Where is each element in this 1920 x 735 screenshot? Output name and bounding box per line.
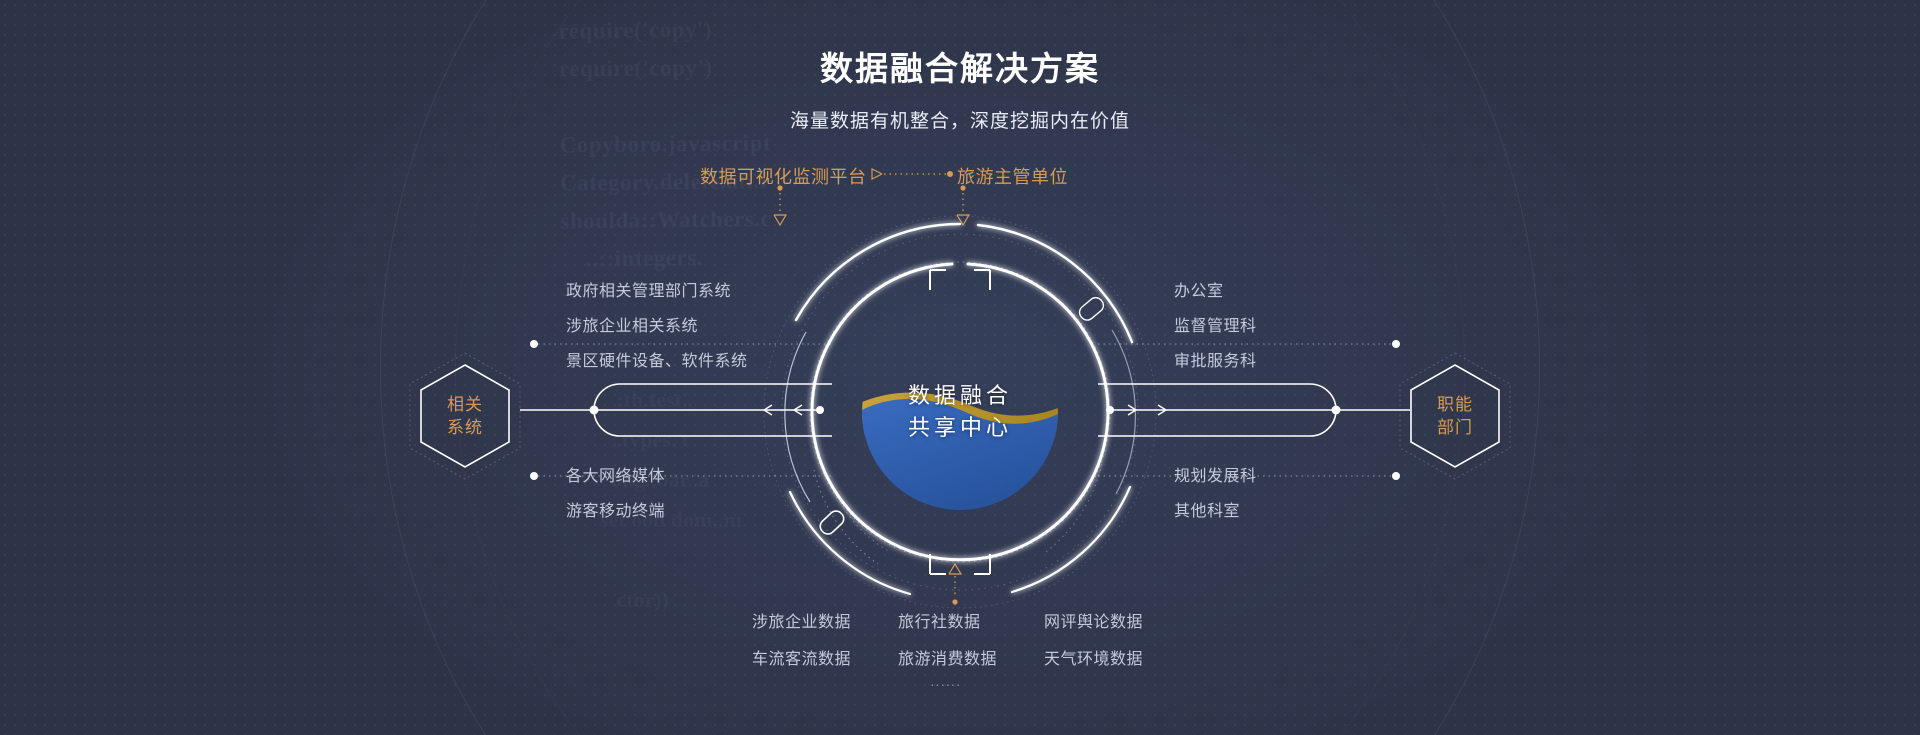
hexagon-right-line2: 部门: [1437, 416, 1473, 439]
hexagon-left-label: 相关 系统: [405, 350, 525, 482]
center-label-line2: 共享中心: [908, 412, 1012, 444]
bottom-item-r1c2[interactable]: 天气环境数据: [1044, 645, 1143, 669]
right-lower-item-1[interactable]: 其他科室: [1174, 497, 1240, 521]
top-node-connector-arrow: [866, 163, 958, 185]
right-upper-item-0[interactable]: 办公室: [1174, 277, 1224, 301]
page-title: 数据融合解决方案: [0, 42, 1920, 90]
bottom-item-r1c1[interactable]: 旅游消费数据: [898, 645, 997, 669]
ring-marker-capsule-2: [1077, 295, 1107, 323]
right-upper-item-1[interactable]: 监督管理科: [1174, 312, 1257, 336]
left-lower-item-1[interactable]: 游客移动终端: [566, 497, 665, 521]
hexagon-left-line1: 相关: [447, 393, 483, 416]
node-tourism-authority[interactable]: 旅游主管单位: [957, 163, 1068, 189]
hexagon-functional-departments[interactable]: 职能 部门: [1395, 350, 1515, 482]
center-label-line1: 数据融合: [908, 380, 1012, 412]
bottom-ellipsis: ······: [930, 676, 961, 692]
header: 数据融合解决方案 海量数据有机整合，深度挖掘内在价值: [0, 0, 1920, 133]
ring-marker-capsule: [817, 508, 846, 537]
left-upper-item-2[interactable]: 景区硬件设备、软件系统: [566, 347, 748, 371]
hexagon-right-label: 职能 部门: [1395, 350, 1515, 482]
right-upper-item-2[interactable]: 审批服务科: [1174, 347, 1257, 371]
left-upper-item-0[interactable]: 政府相关管理部门系统: [566, 277, 731, 301]
left-lower-item-0[interactable]: 各大网络媒体: [566, 462, 665, 486]
hexagon-right-line1: 职能: [1437, 393, 1473, 416]
hexagon-related-systems[interactable]: 相关 系统: [405, 350, 525, 482]
right-lower-item-0[interactable]: 规划发展科: [1174, 462, 1257, 486]
center-diagram: 数据融合 共享中心: [750, 202, 1170, 622]
page-subtitle: 海量数据有机整合，深度挖掘内在价值: [0, 106, 1920, 133]
center-label: 数据融合 共享中心: [908, 380, 1012, 444]
hexagon-left-line2: 系统: [447, 416, 483, 439]
left-upper-item-1[interactable]: 涉旅企业相关系统: [566, 312, 698, 336]
bottom-item-r1c0[interactable]: 车流客流数据: [752, 645, 851, 669]
